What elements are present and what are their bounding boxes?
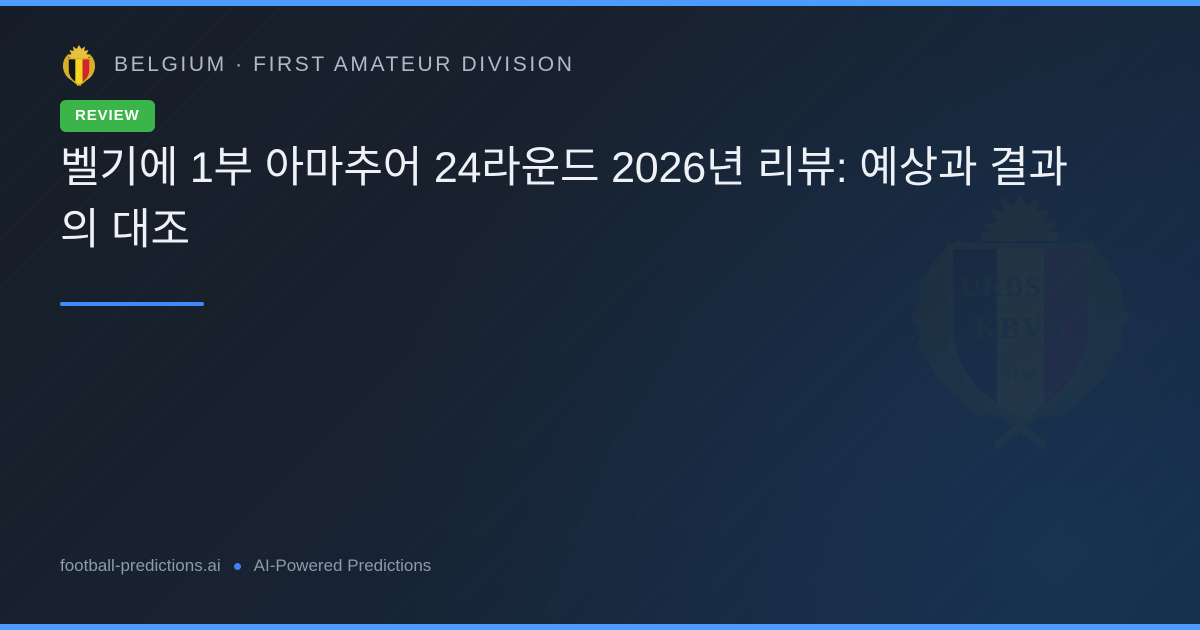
league-name-label: BELGIUM · FIRST AMATEUR DIVISION — [114, 53, 574, 77]
footer-tagline: AI-Powered Predictions — [254, 556, 432, 576]
league-header: BELGIUM · FIRST AMATEUR DIVISION — [60, 44, 574, 86]
accent-divider — [60, 302, 204, 306]
footer: football-predictions.ai AI-Powered Predi… — [60, 556, 431, 576]
bullet-dot-icon — [234, 563, 241, 570]
page-title: 벨기에 1부 아마추어 24라운드 2026년 리뷰: 예상과 결과의 대조 — [60, 137, 1070, 261]
status-badge: REVIEW — [60, 100, 155, 132]
site-name: football-predictions.ai — [60, 556, 221, 576]
share-card: URBSFA KBVB 1895 — [0, 0, 1200, 630]
card-content: BELGIUM · FIRST AMATEUR DIVISION REVIEW … — [60, 0, 1140, 630]
belgium-fa-crest-icon — [60, 44, 98, 86]
